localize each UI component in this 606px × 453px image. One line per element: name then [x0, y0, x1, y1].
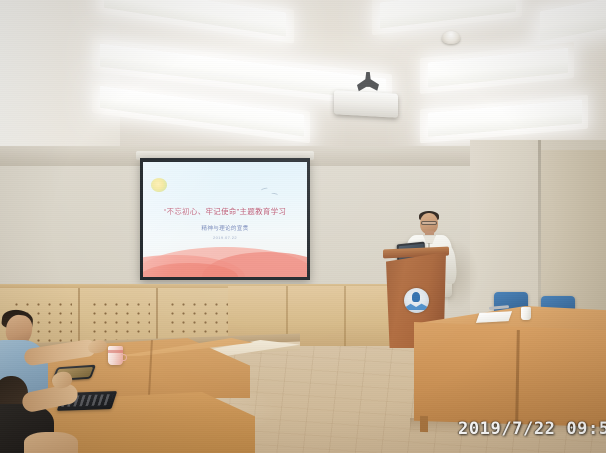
ceiling-light-panel [540, 0, 606, 41]
paper-cup [521, 307, 531, 320]
projection-screen: “不忘初心、牢记使命”主题教育学习 精神与理论的宣贯 2019.07.22 [140, 158, 310, 280]
smoke-detector-icon [442, 31, 460, 44]
slide-date: 2019.07.22 [143, 235, 307, 240]
slide-subtitle: 精神与理论的宣贯 [143, 224, 307, 232]
eyeglasses-icon [421, 221, 437, 225]
organization-emblem-icon [404, 288, 429, 313]
emblem-wave [406, 302, 427, 310]
projected-slide: “不忘初心、牢记使命”主题教育学习 精神与理论的宣贯 2019.07.22 [143, 162, 307, 277]
photograph-meeting-room: “不忘初心、牢记使命”主题教育学习 精神与理论的宣贯 2019.07.22 [0, 0, 606, 453]
bird-graphic-icon [271, 192, 278, 196]
paper-sheet [476, 311, 512, 323]
projector [334, 90, 398, 118]
cabinet-seam [344, 286, 346, 348]
slide-title: “不忘初心、牢记使命”主题教育学习 [143, 206, 307, 217]
attendee-3-shoulder [24, 432, 78, 453]
emblem-mark [412, 292, 420, 302]
panel-perforations [86, 298, 150, 342]
bird-graphic-icon [261, 187, 269, 192]
mug-handle [121, 354, 127, 361]
timestamp-overlay: 2019/7/22 09:50 [458, 419, 606, 439]
sun-graphic-icon [151, 178, 167, 192]
head-table-leg [420, 416, 428, 432]
head-table-front-panel [414, 322, 606, 427]
mug-band [108, 350, 123, 353]
